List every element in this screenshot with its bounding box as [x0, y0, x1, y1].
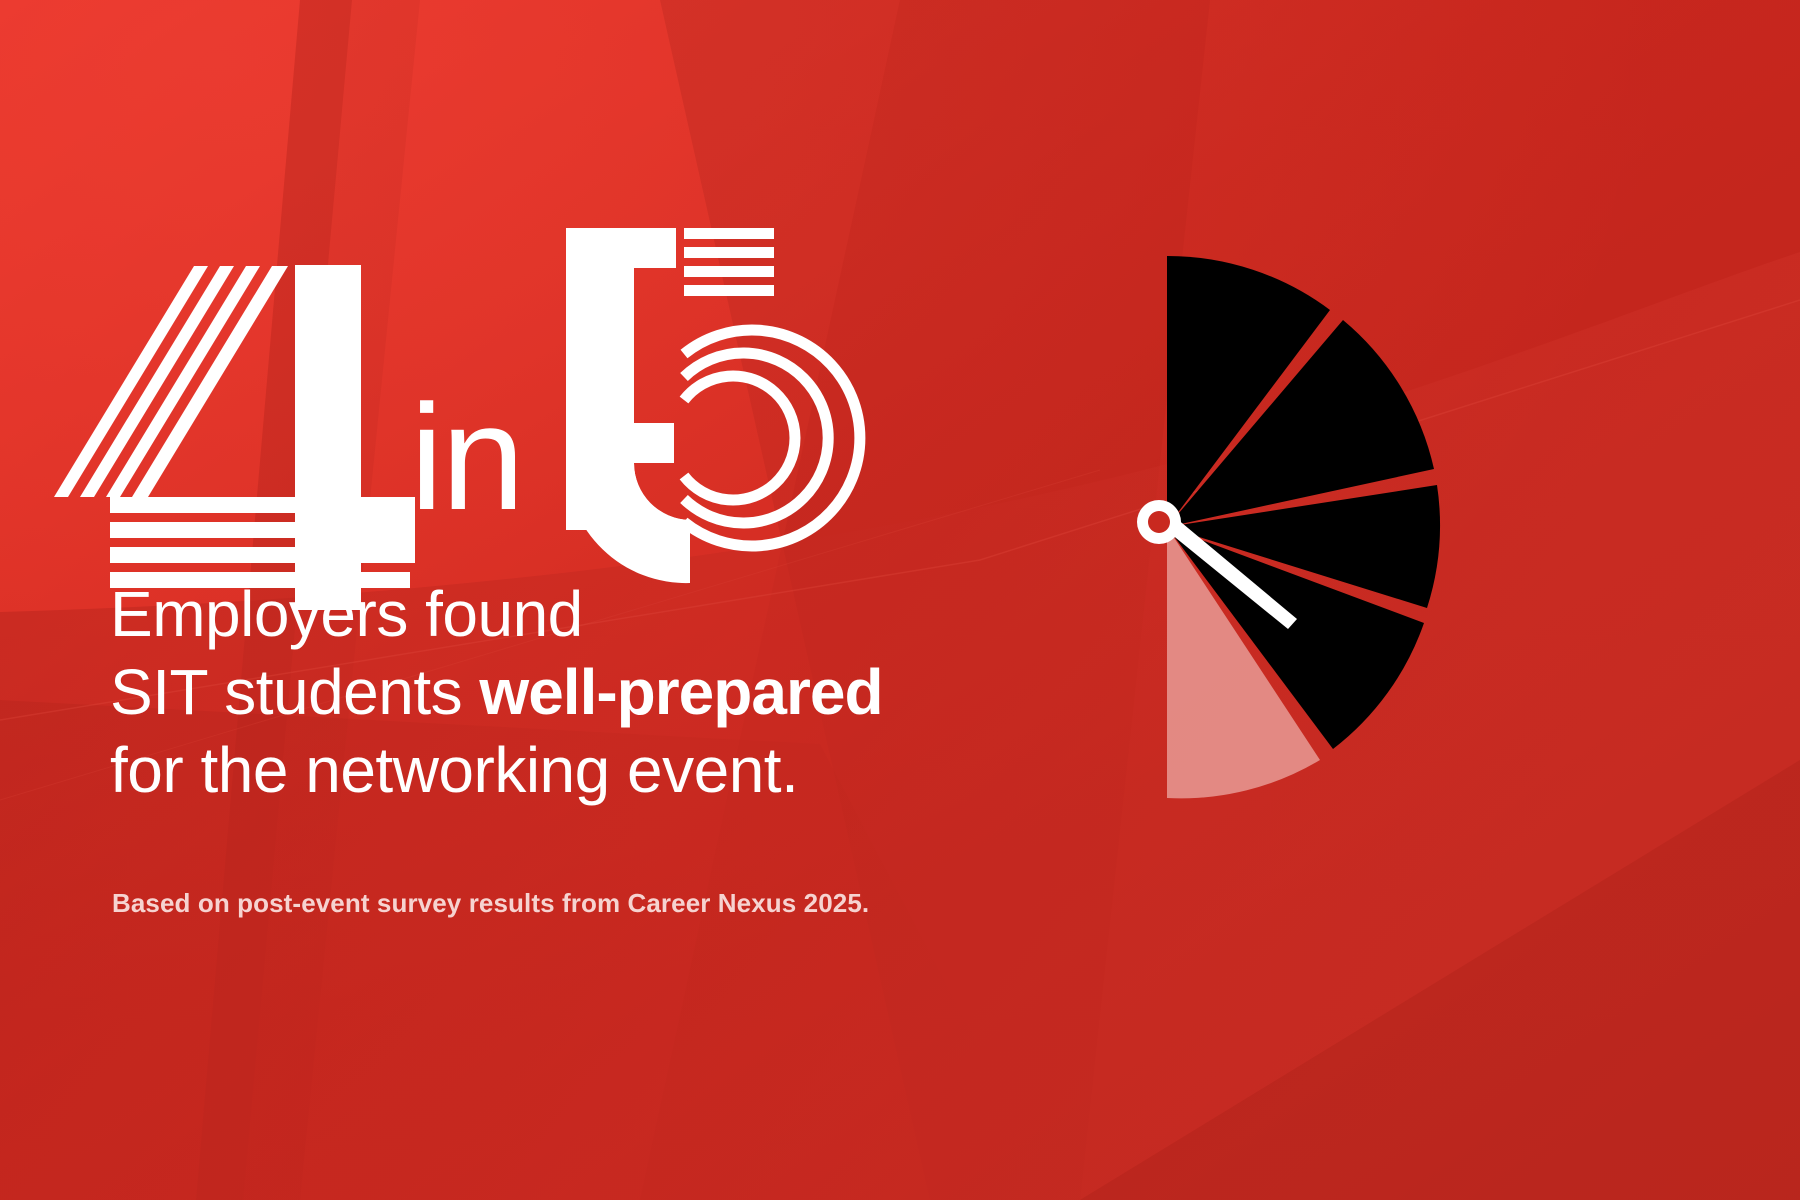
- headline-line-2: SIT students well-prepared: [110, 653, 883, 731]
- headline-line-2-prefix: SIT students: [110, 656, 479, 728]
- stat-connector: in: [410, 382, 523, 532]
- headline-line-1: Employers found: [110, 575, 883, 653]
- infographic-canvas: in Employers found SIT students well-pre…: [0, 0, 1800, 1200]
- headline-emphasis: well-prepared: [479, 656, 882, 728]
- headline: Employers found SIT students well-prepar…: [110, 575, 883, 809]
- headline-line-3: for the networking event.: [110, 731, 883, 809]
- text-layer: in Employers found SIT students well-pre…: [0, 0, 1800, 1200]
- footnote: Based on post-event survey results from …: [112, 888, 869, 919]
